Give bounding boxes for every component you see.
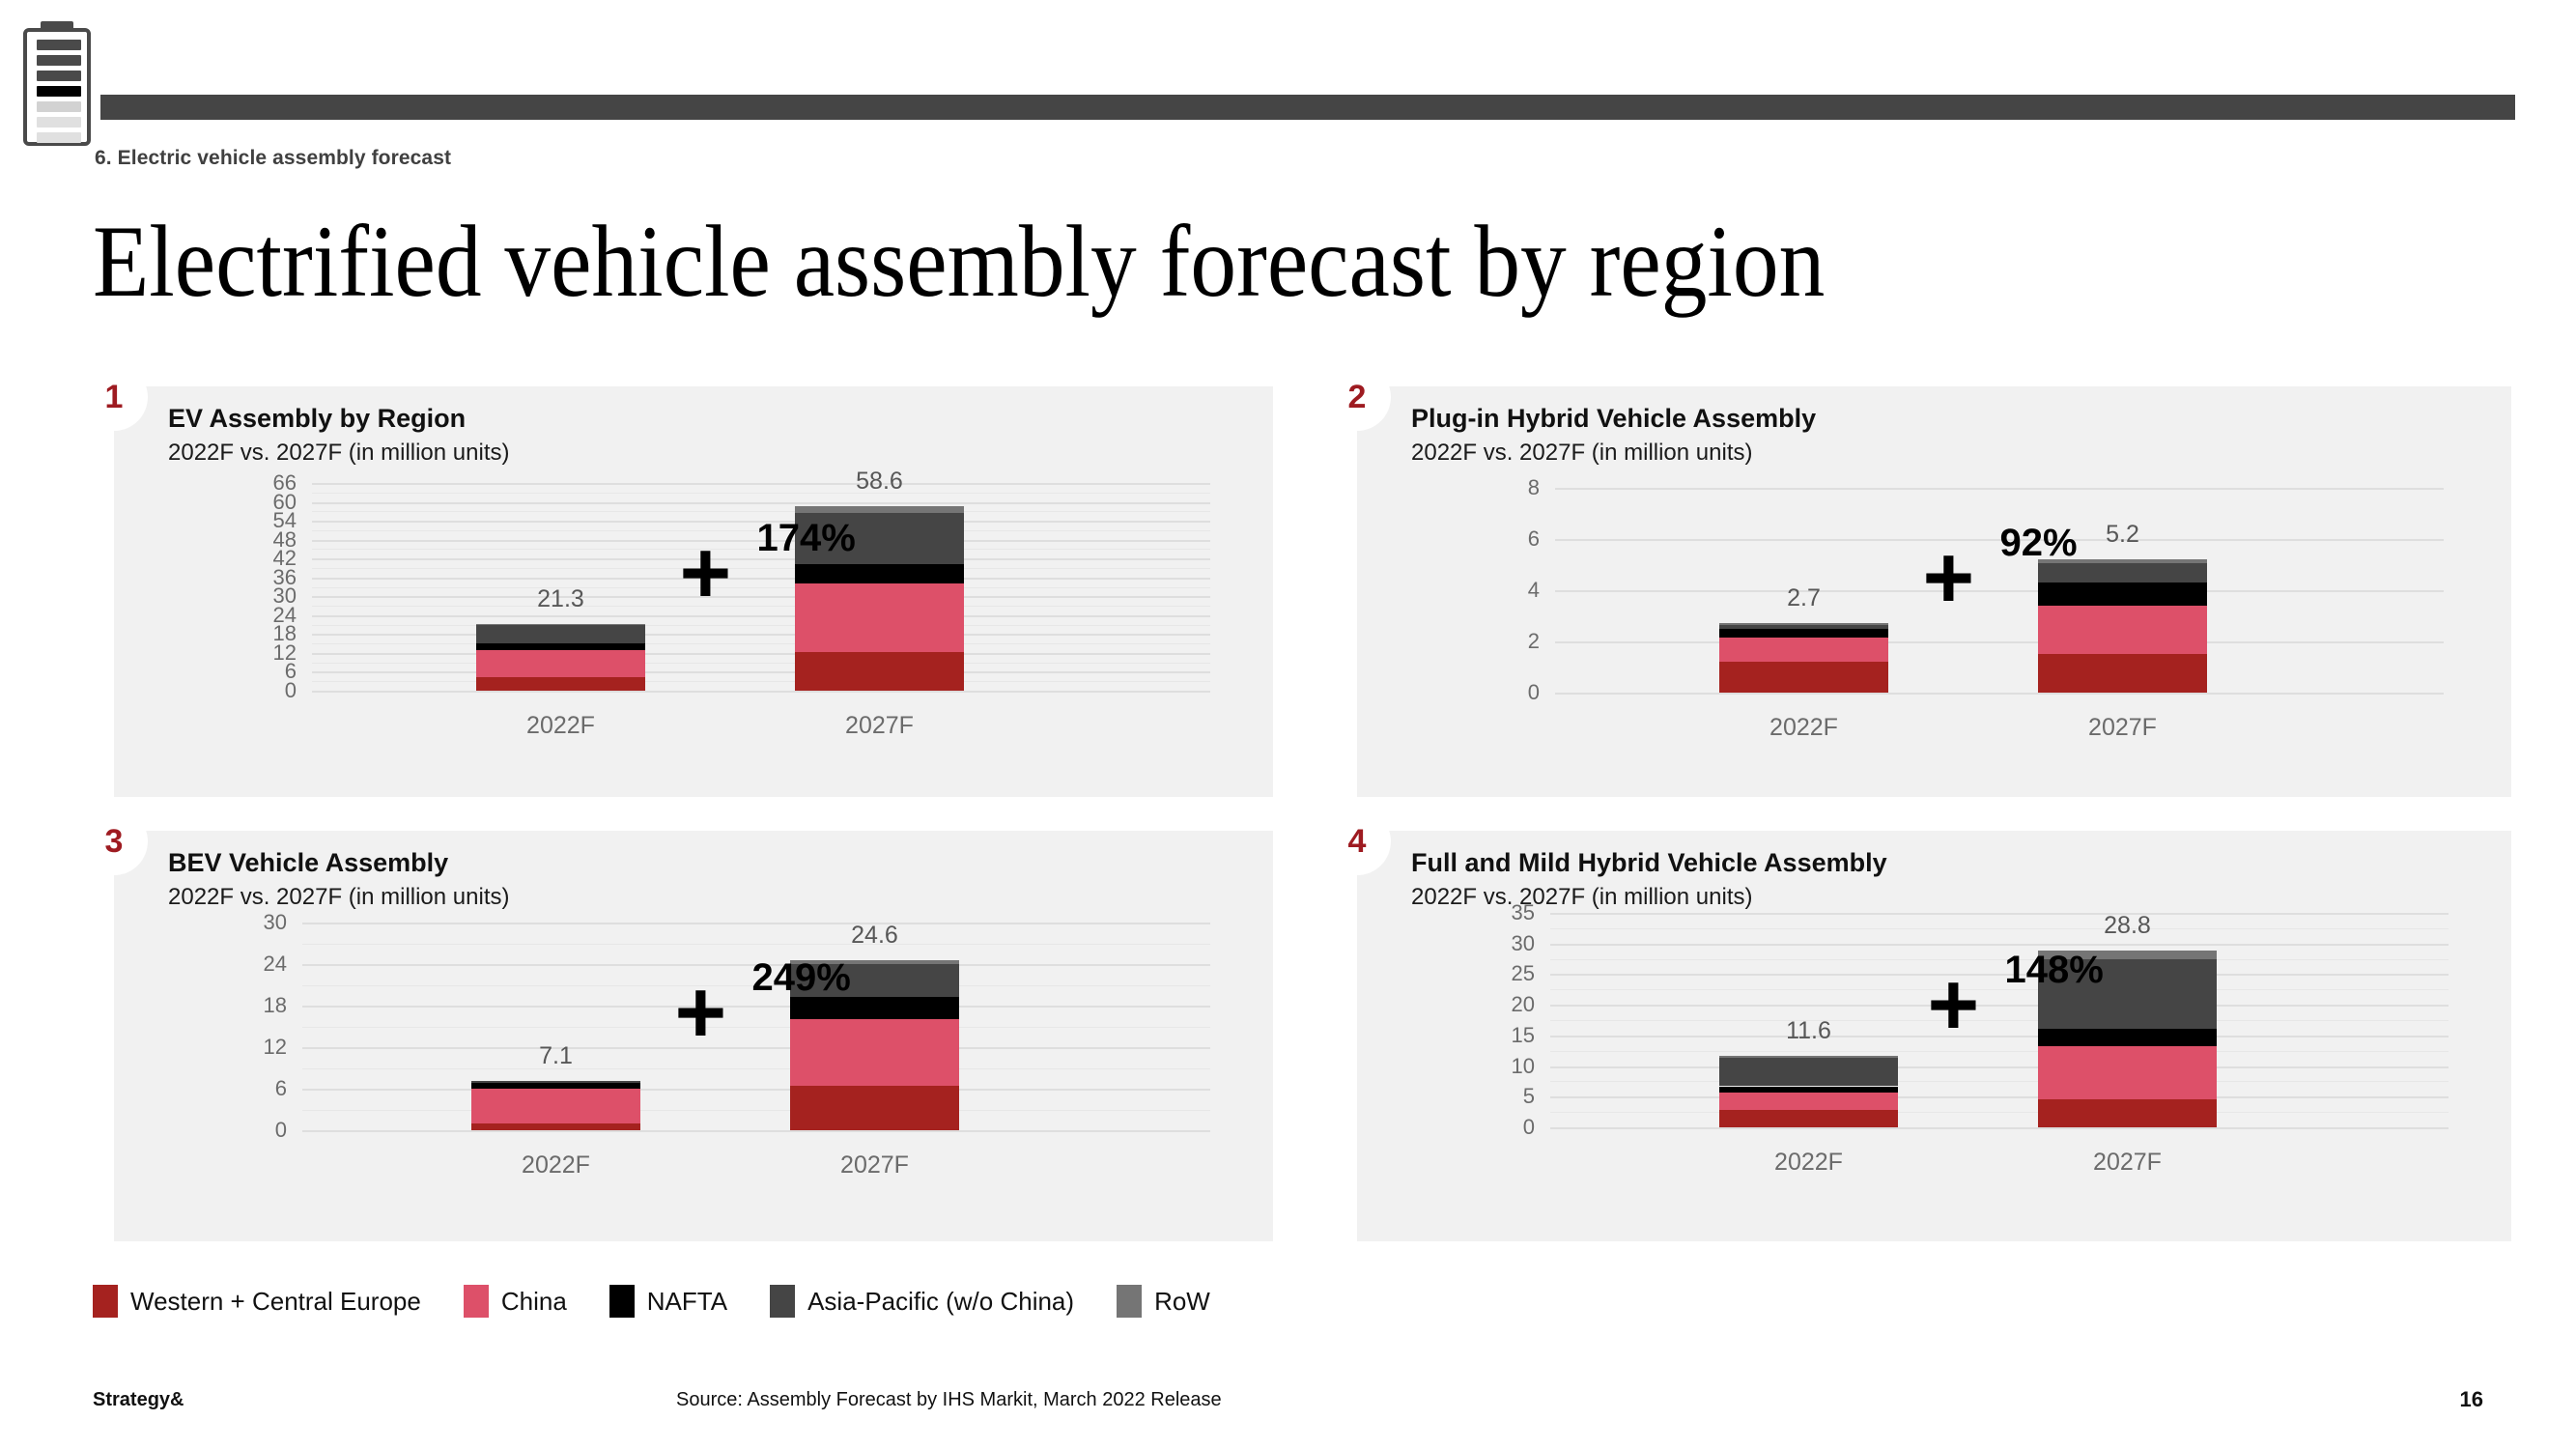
gridline-minor xyxy=(1550,1020,2449,1021)
plus-icon: + xyxy=(1923,533,1975,622)
battery-segment-7 xyxy=(37,132,81,143)
gridline-minor xyxy=(302,1110,1210,1111)
header-rule xyxy=(100,95,2515,120)
plus-icon: + xyxy=(675,968,727,1057)
bar-segment xyxy=(1719,629,1888,638)
bar-segment xyxy=(795,564,964,583)
legend-item-europe[interactable]: Western + Central Europe xyxy=(93,1285,421,1318)
gridline-minor xyxy=(1550,1051,2449,1052)
bar-segment xyxy=(2038,1099,2217,1127)
legend-swatch-europe xyxy=(93,1285,118,1318)
footer-brand: Strategy& xyxy=(93,1389,184,1411)
gridline xyxy=(1555,488,2444,490)
legend-label-china: China xyxy=(501,1287,567,1317)
gridline-minor xyxy=(1550,959,2449,960)
chart-badge-4: 4 xyxy=(1323,808,1391,875)
bar-segment xyxy=(2038,582,2207,606)
gridline-minor xyxy=(312,606,1210,607)
gridline xyxy=(302,1047,1210,1049)
chart-title-2: Plug-in Hybrid Vehicle Assembly xyxy=(1411,404,1816,434)
battery-icon xyxy=(17,21,97,149)
gridline-minor xyxy=(312,625,1210,626)
bar-2-2027F[interactable] xyxy=(2038,559,2207,693)
plot-area-3: 06121824307.12022F24.62027F+249% xyxy=(302,923,1210,1130)
gridline-minor xyxy=(312,587,1210,588)
gridline xyxy=(302,1006,1210,1008)
gridline-minor xyxy=(1550,928,2449,929)
battery-segment-3 xyxy=(37,71,81,81)
gridline-minor xyxy=(302,1027,1210,1028)
y-axis-tick: 0 xyxy=(1473,1115,1535,1140)
legend-item-nafta[interactable]: NAFTA xyxy=(609,1285,727,1318)
section-kicker: 6. Electric vehicle assembly forecast xyxy=(95,147,451,170)
gridline xyxy=(1550,974,2449,976)
bar-segment xyxy=(790,997,959,1018)
bar-total-label: 7.1 xyxy=(471,1042,640,1070)
y-axis-tick: 2 xyxy=(1478,629,1540,654)
bar-segment xyxy=(2038,1029,2217,1046)
chart-title-1: EV Assembly by Region xyxy=(168,404,466,434)
y-axis-tick: 18 xyxy=(225,993,287,1018)
gridline xyxy=(302,1089,1210,1091)
legend-swatch-nafta xyxy=(609,1285,635,1318)
battery-body xyxy=(23,28,91,146)
legend-label-asia_pacific: Asia-Pacific (w/o China) xyxy=(807,1287,1074,1317)
y-axis-tick: 35 xyxy=(1473,900,1535,925)
y-axis-tick: 6 xyxy=(1478,526,1540,552)
legend-item-china[interactable]: China xyxy=(464,1285,567,1318)
page-number: 16 xyxy=(2460,1387,2483,1412)
plot-area-1: 061218243036424854606621.32022F58.62027F… xyxy=(312,483,1210,691)
chart-panel-1: EV Assembly by Region2022F vs. 2027F (in… xyxy=(114,386,1273,797)
bar-segment xyxy=(471,1089,640,1123)
bar-segment xyxy=(1719,1110,1898,1127)
bar-segment xyxy=(476,677,645,691)
gridline-minor xyxy=(312,643,1210,644)
plus-icon: + xyxy=(680,528,732,617)
plot-area-4: 0510152025303511.62022F28.82027F+148% xyxy=(1550,913,2449,1127)
y-axis-tick: 25 xyxy=(1473,961,1535,986)
bar-3-2022F[interactable] xyxy=(471,1081,640,1130)
bar-total-label: 21.3 xyxy=(476,585,645,613)
gridline xyxy=(1555,693,2444,695)
gridline xyxy=(312,483,1210,485)
gridline xyxy=(1550,1066,2449,1068)
gridline xyxy=(312,691,1210,693)
bar-2-2022F[interactable] xyxy=(1719,623,1888,693)
bar-segment xyxy=(1719,638,1888,662)
legend-swatch-row xyxy=(1117,1285,1142,1318)
bar-total-label: 58.6 xyxy=(795,468,964,496)
gridline xyxy=(312,578,1210,580)
chart-badge-3: 3 xyxy=(80,808,148,875)
bar-segment xyxy=(2038,563,2207,582)
bar-segment xyxy=(1719,1093,1898,1110)
battery-segment-4 xyxy=(37,86,81,97)
chart-title-3: BEV Vehicle Assembly xyxy=(168,848,448,878)
gridline-minor xyxy=(312,568,1210,569)
chart-subtitle-2: 2022F vs. 2027F (in million units) xyxy=(1411,440,1752,467)
page-title: Electrified vehicle assembly forecast by… xyxy=(93,208,2283,315)
y-axis-tick: 30 xyxy=(225,910,287,935)
legend-label-row: RoW xyxy=(1154,1287,1210,1317)
bar-segment xyxy=(1719,662,1888,693)
x-axis-label: 2027F xyxy=(766,712,993,740)
gridline-minor xyxy=(312,681,1210,682)
y-axis-tick: 5 xyxy=(1473,1084,1535,1109)
chart-panel-4: Full and Mild Hybrid Vehicle Assembly202… xyxy=(1357,831,2511,1241)
x-axis-label: 2022F xyxy=(442,1151,669,1179)
bar-segment xyxy=(795,583,964,653)
gridline xyxy=(1550,1127,2449,1129)
bar-segment xyxy=(471,1123,640,1130)
legend-swatch-asia_pacific xyxy=(770,1285,795,1318)
x-axis-label: 2022F xyxy=(447,712,674,740)
battery-segment-6 xyxy=(37,117,81,128)
bar-total-label: 24.6 xyxy=(790,922,959,950)
gridline-minor xyxy=(1550,989,2449,990)
bar-segment xyxy=(476,650,645,678)
legend-swatch-china xyxy=(464,1285,489,1318)
gridline xyxy=(1550,1096,2449,1098)
gridline-minor xyxy=(302,944,1210,945)
gridline xyxy=(312,615,1210,617)
plus-icon: + xyxy=(1928,960,1980,1049)
gridline xyxy=(1550,1005,2449,1007)
gridline xyxy=(1555,590,2444,592)
legend-label-europe: Western + Central Europe xyxy=(130,1287,421,1317)
y-axis-tick: 8 xyxy=(1478,475,1540,500)
bar-4-2022F[interactable] xyxy=(1719,1056,1898,1127)
y-axis-tick: 6 xyxy=(225,1076,287,1101)
y-axis-tick: 10 xyxy=(1473,1054,1535,1079)
chart-badge-2: 2 xyxy=(1323,363,1391,431)
x-axis-label: 2027F xyxy=(2009,1149,2246,1177)
gridline-minor xyxy=(1550,1112,2449,1113)
chart-title-4: Full and Mild Hybrid Vehicle Assembly xyxy=(1411,848,1887,878)
gridline xyxy=(312,502,1210,504)
footer-source: Source: Assembly Forecast by IHS Markit,… xyxy=(676,1389,1222,1411)
gridline xyxy=(312,671,1210,673)
legend-item-asia_pacific[interactable]: Asia-Pacific (w/o China) xyxy=(770,1285,1074,1318)
gridline xyxy=(312,653,1210,655)
bar-segment xyxy=(476,625,645,644)
gridline-minor xyxy=(1550,1081,2449,1082)
gridline-minor xyxy=(312,511,1210,512)
growth-percentage: 148% xyxy=(2005,949,2104,992)
bar-total-label: 2.7 xyxy=(1719,584,1888,612)
y-axis-tick: 0 xyxy=(225,1118,287,1143)
battery-segment-1 xyxy=(37,40,81,50)
gridline-minor xyxy=(312,663,1210,664)
y-axis-tick: 12 xyxy=(225,1035,287,1060)
bar-segment xyxy=(795,652,964,691)
gridline-minor xyxy=(312,493,1210,494)
legend-label-nafta: NAFTA xyxy=(647,1287,727,1317)
battery-segment-5 xyxy=(37,101,81,112)
gridline xyxy=(312,634,1210,636)
gridline xyxy=(1550,944,2449,946)
bar-segment xyxy=(790,1086,959,1130)
chart-legend: Western + Central EuropeChinaNAFTAAsia-P… xyxy=(93,1285,1253,1318)
x-axis-label: 2022F xyxy=(1690,1149,1927,1177)
gridline xyxy=(1555,641,2444,643)
growth-percentage: 249% xyxy=(752,956,851,1000)
bar-total-label: 11.6 xyxy=(1719,1017,1898,1045)
x-axis-label: 2022F xyxy=(1690,714,1917,742)
bar-segment xyxy=(2038,606,2207,654)
y-axis-tick: 30 xyxy=(1473,931,1535,956)
chart-panel-3: BEV Vehicle Assembly2022F vs. 2027F (in … xyxy=(114,831,1273,1241)
battery-segment-2 xyxy=(37,55,81,66)
y-axis-tick: 66 xyxy=(235,470,297,496)
y-axis-tick: 4 xyxy=(1478,578,1540,603)
y-axis-tick: 24 xyxy=(225,952,287,977)
bar-segment xyxy=(2038,1046,2217,1099)
bar-total-label: 28.8 xyxy=(2038,912,2217,940)
chart-subtitle-3: 2022F vs. 2027F (in million units) xyxy=(168,884,509,911)
bar-1-2022F[interactable] xyxy=(476,624,645,691)
chart-subtitle-4: 2022F vs. 2027F (in million units) xyxy=(1411,884,1752,911)
bar-segment xyxy=(790,1019,959,1087)
bar-segment xyxy=(2038,654,2207,693)
growth-percentage: 92% xyxy=(2000,522,2078,565)
gridline xyxy=(302,923,1210,924)
y-axis-tick: 20 xyxy=(1473,992,1535,1017)
gridline xyxy=(1550,1036,2449,1037)
plot-area-2: 024682.72022F5.22027F+92% xyxy=(1555,488,2444,693)
legend-item-row[interactable]: RoW xyxy=(1117,1285,1210,1318)
x-axis-label: 2027F xyxy=(761,1151,988,1179)
chart-badge-1: 1 xyxy=(80,363,148,431)
gridline-minor xyxy=(302,1068,1210,1069)
y-axis-tick: 15 xyxy=(1473,1023,1535,1048)
gridline xyxy=(312,596,1210,598)
gridline xyxy=(302,1130,1210,1132)
y-axis-tick: 0 xyxy=(1478,680,1540,705)
bar-segment xyxy=(1719,1058,1898,1086)
gridline xyxy=(1550,913,2449,915)
x-axis-label: 2027F xyxy=(2009,714,2236,742)
chart-subtitle-1: 2022F vs. 2027F (in million units) xyxy=(168,440,509,467)
chart-panel-2: Plug-in Hybrid Vehicle Assembly2022F vs.… xyxy=(1357,386,2511,797)
growth-percentage: 174% xyxy=(757,517,856,560)
